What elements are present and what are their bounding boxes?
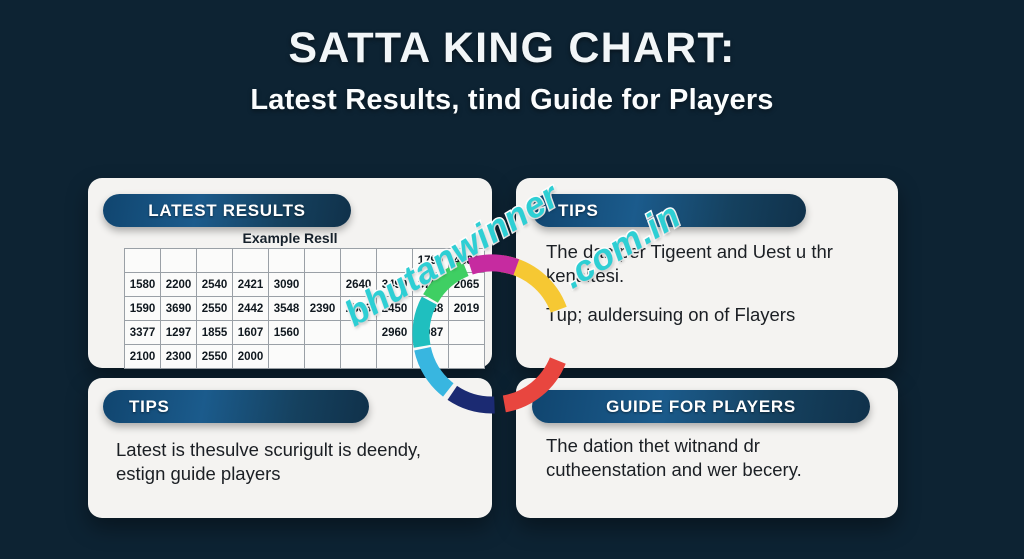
table-cell: 3090 xyxy=(269,273,305,297)
table-cell xyxy=(233,249,269,273)
table-cell: 2000 xyxy=(233,345,269,369)
pill-tips-left-label: TIPS xyxy=(129,397,170,417)
pill-latest-results-label: LATEST RESULTS xyxy=(148,201,305,221)
table-cell: 1607 xyxy=(233,321,269,345)
guide-text: The dation thet witnand dr cutheenstatio… xyxy=(546,434,876,483)
table-cell: 1560 xyxy=(269,321,305,345)
table-cell xyxy=(269,345,305,369)
infographic-canvas: SATTA KING CHART: Latest Results, tind G… xyxy=(0,0,1024,559)
tips-right-paragraph: Tup; auldersuing on of Flayers xyxy=(546,303,888,327)
page-subtitle: Latest Results, tind Guide for Players xyxy=(0,84,1024,117)
pill-tips-left: TIPS xyxy=(103,390,369,423)
table-cell: 2550 xyxy=(197,297,233,321)
ring-segment-red xyxy=(504,361,558,404)
table-cell xyxy=(305,345,341,369)
table-cell: 3548 xyxy=(269,297,305,321)
table-cell xyxy=(269,249,305,273)
table-cell: 2200 xyxy=(161,273,197,297)
table-cell: 2540 xyxy=(197,273,233,297)
table-cell: 1855 xyxy=(197,321,233,345)
tips-left-text: Latest is thesulve scurigult is deendy, … xyxy=(116,438,466,487)
table-cell: 2100 xyxy=(125,345,161,369)
table-cell xyxy=(341,249,377,273)
pill-latest-results: LATEST RESULTS xyxy=(103,194,351,227)
ring-segment-navy xyxy=(452,393,494,405)
table-cell: 1590 xyxy=(125,297,161,321)
table-cell: 2442 xyxy=(233,297,269,321)
table-cell: 1297 xyxy=(161,321,197,345)
table-cell xyxy=(125,249,161,273)
table-cell: 1580 xyxy=(125,273,161,297)
table-cell xyxy=(341,345,377,369)
table-cell xyxy=(161,249,197,273)
pill-guide-label: GUIDE FOR PLAYERS xyxy=(606,397,796,417)
table-cell xyxy=(305,273,341,297)
header-block: SATTA KING CHART: Latest Results, tind G… xyxy=(0,26,1024,117)
pill-guide-for-players: GUIDE FOR PLAYERS xyxy=(532,390,870,423)
page-title: SATTA KING CHART: xyxy=(0,26,1024,71)
table-cell: 3377 xyxy=(125,321,161,345)
table-cell: 2550 xyxy=(197,345,233,369)
ring-segment-teal xyxy=(421,301,429,347)
table-cell: 2300 xyxy=(161,345,197,369)
ring-segment-sky xyxy=(423,349,449,390)
table-cell: 2390 xyxy=(305,297,341,321)
table-cell xyxy=(305,321,341,345)
table-cell xyxy=(197,249,233,273)
table-cell: 3690 xyxy=(161,297,197,321)
table-cell: 2421 xyxy=(233,273,269,297)
table-cell xyxy=(305,249,341,273)
